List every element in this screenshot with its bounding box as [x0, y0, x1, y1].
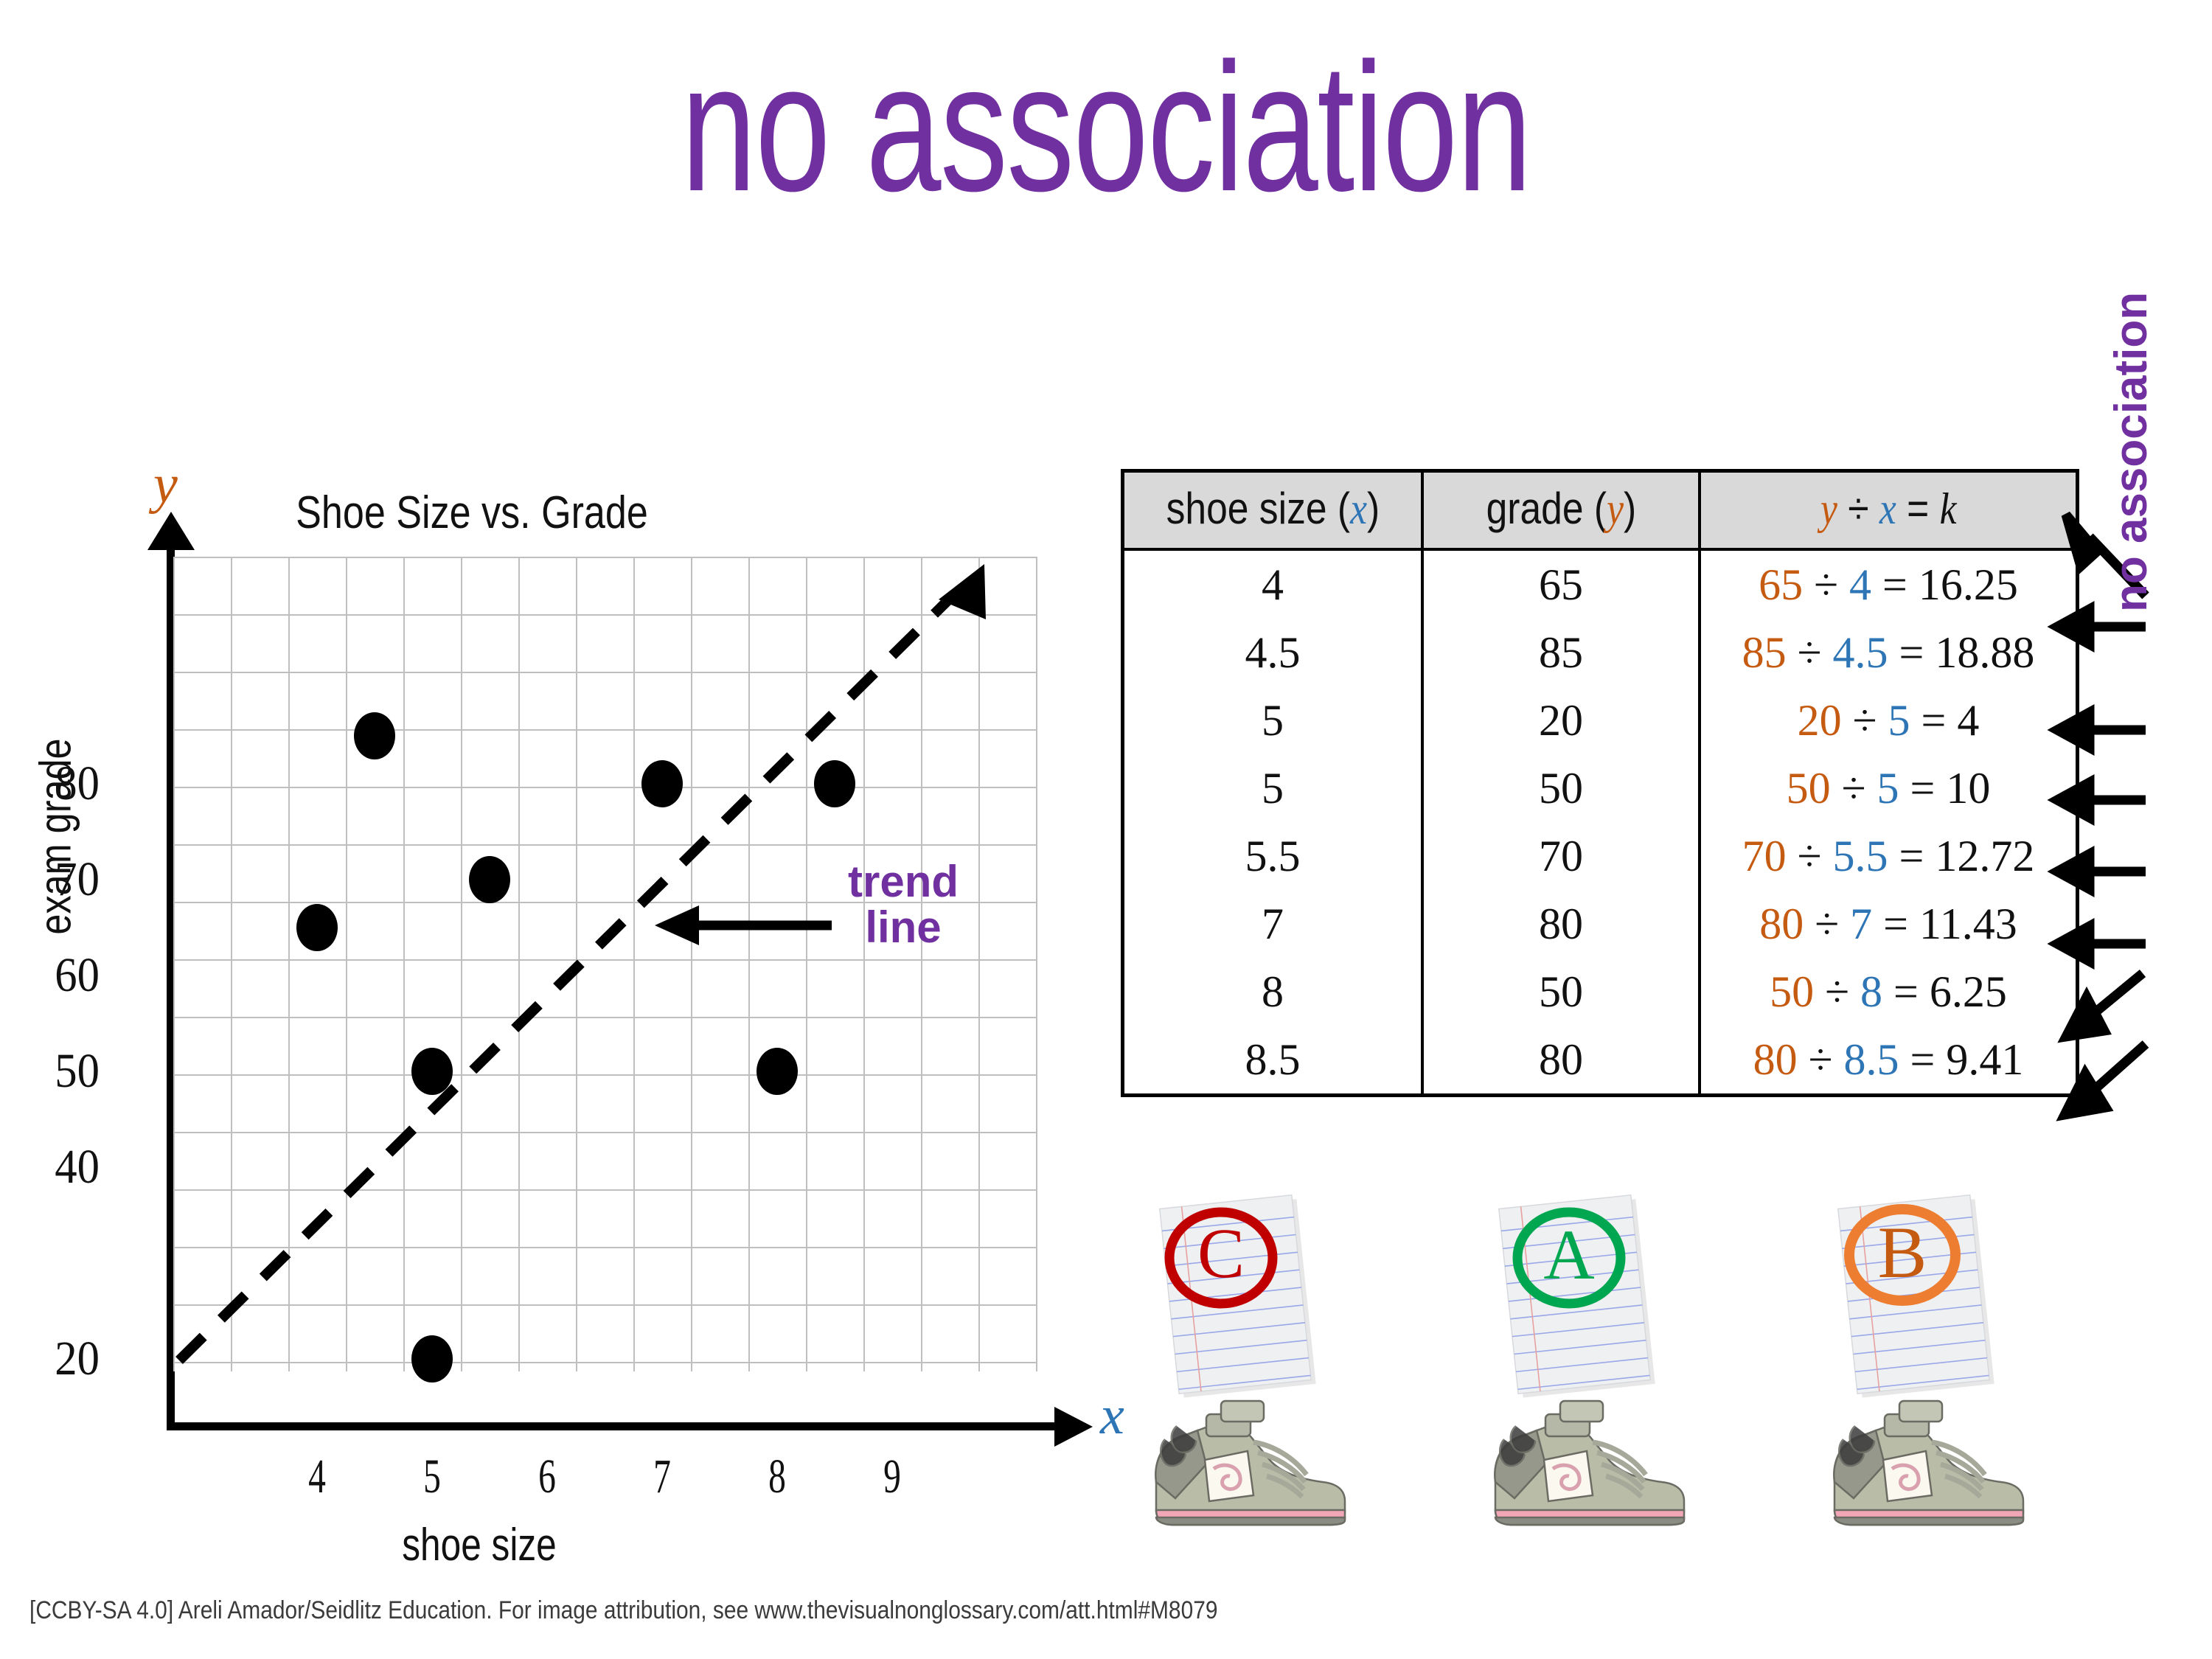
header-k-formula: y ÷ x = k [1700, 471, 2078, 550]
no-association-side-label: no association [2105, 292, 2157, 612]
cell-k-expression: 50 ÷ 8 = 6.25 [1700, 958, 2078, 1026]
header-shoe-size-close: ) [1367, 484, 1380, 533]
k-division-sign: ÷ [1798, 628, 1822, 677]
y-tick-20: 20 [0, 1331, 100, 1387]
trend-callout-line1: trend [848, 857, 959, 906]
k-result: 18.88 [1935, 628, 2034, 677]
data-point [296, 904, 338, 951]
cell-grade: 85 [1422, 619, 1700, 686]
header-grade: grade (y) [1422, 471, 1700, 550]
page-title: no association [288, 35, 1924, 218]
x-tick-8: 8 [745, 1449, 809, 1505]
cell-grade: 65 [1422, 549, 1700, 619]
cell-shoe-size: 5 [1123, 686, 1423, 754]
data-point [757, 1048, 798, 1095]
header-shoe-size: shoe size (x) [1123, 471, 1423, 550]
header-k-div: ÷ [1848, 484, 1868, 533]
slide-root: no association Shoe Size vs. Grade y x 8… [0, 0, 2212, 1659]
k-division-sign: ÷ [1814, 560, 1838, 609]
attribution-footer: [CCBY-SA 4.0] Areli Amador/Seidlitz Educ… [29, 1596, 1218, 1625]
x-axis-arrowhead [1054, 1407, 1093, 1447]
k-result: 11.43 [1919, 900, 2017, 948]
k-equals-sign: = [1893, 967, 1919, 1016]
k-result: 4 [1957, 696, 1979, 745]
k-division-sign: ÷ [1842, 764, 1866, 813]
k-equals-sign: = [1899, 628, 1924, 677]
table-header-row: shoe size (x) grade (y) y ÷ x = k [1123, 471, 2078, 550]
k-numerator: 85 [1742, 628, 1787, 677]
table-row: 78080 ÷ 7 = 11.43 [1123, 890, 2078, 958]
cell-grade: 20 [1422, 686, 1700, 754]
header-shoe-size-text: shoe size ( [1166, 484, 1350, 533]
table-row: 46565 ÷ 4 = 16.25 [1123, 549, 2078, 619]
chart-title: Shoe Size vs. Grade [255, 487, 689, 539]
data-point [411, 1335, 453, 1382]
k-result: 12.72 [1935, 832, 2034, 880]
k-numerator: 80 [1753, 1035, 1798, 1084]
k-division-sign: ÷ [1853, 696, 1877, 745]
table-row: 52020 ÷ 5 = 4 [1123, 686, 2078, 754]
k-division-sign: ÷ [1798, 832, 1822, 880]
k-division-sign: ÷ [1809, 1035, 1833, 1084]
cell-shoe-size: 4.5 [1123, 619, 1423, 686]
x-tick-5: 5 [400, 1449, 464, 1505]
header-k-k: k [1939, 484, 1956, 533]
grade-letter-c: C [1197, 1214, 1245, 1293]
k-result: 6.25 [1930, 967, 2007, 1016]
cell-shoe-size: 8.5 [1123, 1026, 1423, 1096]
header-k-y: y [1820, 484, 1837, 533]
trend-line-callout: trend line [800, 859, 1006, 950]
x-axis-line [167, 1422, 1062, 1430]
cell-shoe-size: 7 [1123, 890, 1423, 958]
artwork-item-c: C [1135, 1194, 1460, 1563]
lined-paper-icon-b: B [1814, 1194, 2035, 1401]
table-row: 85050 ÷ 8 = 6.25 [1123, 958, 2078, 1026]
x-tick-4: 4 [285, 1449, 349, 1505]
k-numerator: 50 [1770, 967, 1814, 1016]
header-grade-close: ) [1624, 484, 1636, 533]
k-denominator: 7 [1850, 900, 1872, 948]
sneaker-icon-a [1482, 1371, 1696, 1548]
cell-shoe-size: 4 [1123, 549, 1423, 619]
table-row: 4.58585 ÷ 4.5 = 18.88 [1123, 619, 2078, 686]
k-denominator: 8 [1860, 967, 1882, 1016]
k-numerator: 50 [1787, 764, 1831, 813]
cell-shoe-size: 5 [1123, 754, 1423, 822]
k-denominator: 4 [1849, 560, 1871, 609]
k-numerator: 70 [1742, 832, 1787, 880]
x-tick-6: 6 [515, 1449, 579, 1505]
cell-k-expression: 65 ÷ 4 = 16.25 [1700, 549, 2078, 619]
y-axis-variable-label: y [153, 453, 178, 516]
trend-callout-line2: line [865, 902, 941, 952]
x-tick-9: 9 [860, 1449, 924, 1505]
header-k-eq: = [1907, 484, 1929, 533]
k-result: 16.25 [1919, 560, 2018, 609]
k-numerator: 65 [1759, 560, 1803, 609]
header-grade-var: y [1607, 484, 1624, 533]
k-equals-sign: = [1883, 900, 1908, 948]
x-axis-variable-label: x [1100, 1385, 1124, 1447]
sneaker-icon-b [1821, 1371, 2035, 1548]
cell-k-expression: 80 ÷ 7 = 11.43 [1700, 890, 2078, 958]
x-axis-title: shoe size [314, 1519, 644, 1571]
k-denominator: 5 [1888, 696, 1910, 745]
cell-grade: 50 [1422, 958, 1700, 1026]
cell-grade: 80 [1422, 1026, 1700, 1096]
plot-area [173, 557, 1036, 1371]
cell-k-expression: 70 ÷ 5.5 = 12.72 [1700, 822, 2078, 890]
header-k-x: x [1879, 484, 1896, 533]
sneaker-icon-c [1143, 1371, 1357, 1548]
k-denominator: 5 [1877, 764, 1899, 813]
y-axis-title: exam grade [30, 706, 81, 967]
k-value-table: shoe size (x) grade (y) y ÷ x = k 46565 … [1121, 469, 2079, 1097]
k-value-table-wrapper: shoe size (x) grade (y) y ÷ x = k 46565 … [1121, 469, 2079, 1097]
table-row: 55050 ÷ 5 = 10 [1123, 754, 2078, 822]
trend-line [173, 557, 1036, 1371]
table-body: 46565 ÷ 4 = 16.254.58585 ÷ 4.5 = 18.8852… [1123, 549, 2078, 1096]
data-point [469, 856, 510, 903]
cell-shoe-size: 5.5 [1123, 822, 1423, 890]
k-denominator: 8.5 [1844, 1035, 1899, 1084]
scatter-plot-figure: Shoe Size vs. Grade y x 80 70 60 50 40 2… [29, 457, 1099, 1548]
k-numerator: 20 [1798, 696, 1842, 745]
table-row: 5.57070 ÷ 5.5 = 12.72 [1123, 822, 2078, 890]
header-shoe-size-var: x [1350, 484, 1367, 533]
cell-k-expression: 20 ÷ 5 = 4 [1700, 686, 2078, 754]
y-axis-arrowhead [147, 512, 195, 550]
table-row: 8.58080 ÷ 8.5 = 9.41 [1123, 1026, 2078, 1096]
data-point [641, 760, 683, 807]
k-equals-sign: = [1882, 560, 1907, 609]
header-grade-text: grade ( [1486, 484, 1606, 533]
data-point [354, 712, 395, 759]
k-equals-sign: = [1899, 832, 1924, 880]
k-division-sign: ÷ [1825, 967, 1849, 1016]
cell-k-expression: 80 ÷ 8.5 = 9.41 [1700, 1026, 2078, 1096]
artwork-item-a: A [1475, 1194, 1799, 1563]
lined-paper-icon-a: A [1475, 1194, 1696, 1401]
y-tick-40: 40 [0, 1139, 100, 1195]
cell-shoe-size: 8 [1123, 958, 1423, 1026]
grade-letter-b: B [1878, 1211, 1927, 1293]
gridline-vertical [1036, 557, 1037, 1371]
cell-grade: 50 [1422, 754, 1700, 822]
k-equals-sign: = [1910, 1035, 1935, 1084]
k-denominator: 4.5 [1833, 628, 1888, 677]
artwork-item-b: B [1814, 1194, 2138, 1563]
k-denominator: 5.5 [1833, 832, 1888, 880]
k-division-sign: ÷ [1815, 900, 1839, 948]
k-result: 10 [1946, 764, 1990, 813]
data-point [411, 1048, 453, 1095]
k-result: 9.41 [1946, 1035, 2023, 1084]
k-numerator: 80 [1759, 900, 1804, 948]
k-equals-sign: = [1921, 696, 1947, 745]
x-tick-7: 7 [630, 1449, 694, 1505]
cell-k-expression: 85 ÷ 4.5 = 18.88 [1700, 619, 2078, 686]
cell-k-expression: 50 ÷ 5 = 10 [1700, 754, 2078, 822]
grade-letter-a: A [1543, 1215, 1594, 1294]
k-equals-sign: = [1910, 764, 1935, 813]
lined-paper-icon-c: C [1135, 1194, 1357, 1401]
artwork-row: C [1135, 1194, 2197, 1563]
cell-grade: 70 [1422, 822, 1700, 890]
y-tick-50: 50 [0, 1043, 100, 1099]
data-point [814, 760, 855, 807]
cell-grade: 80 [1422, 890, 1700, 958]
